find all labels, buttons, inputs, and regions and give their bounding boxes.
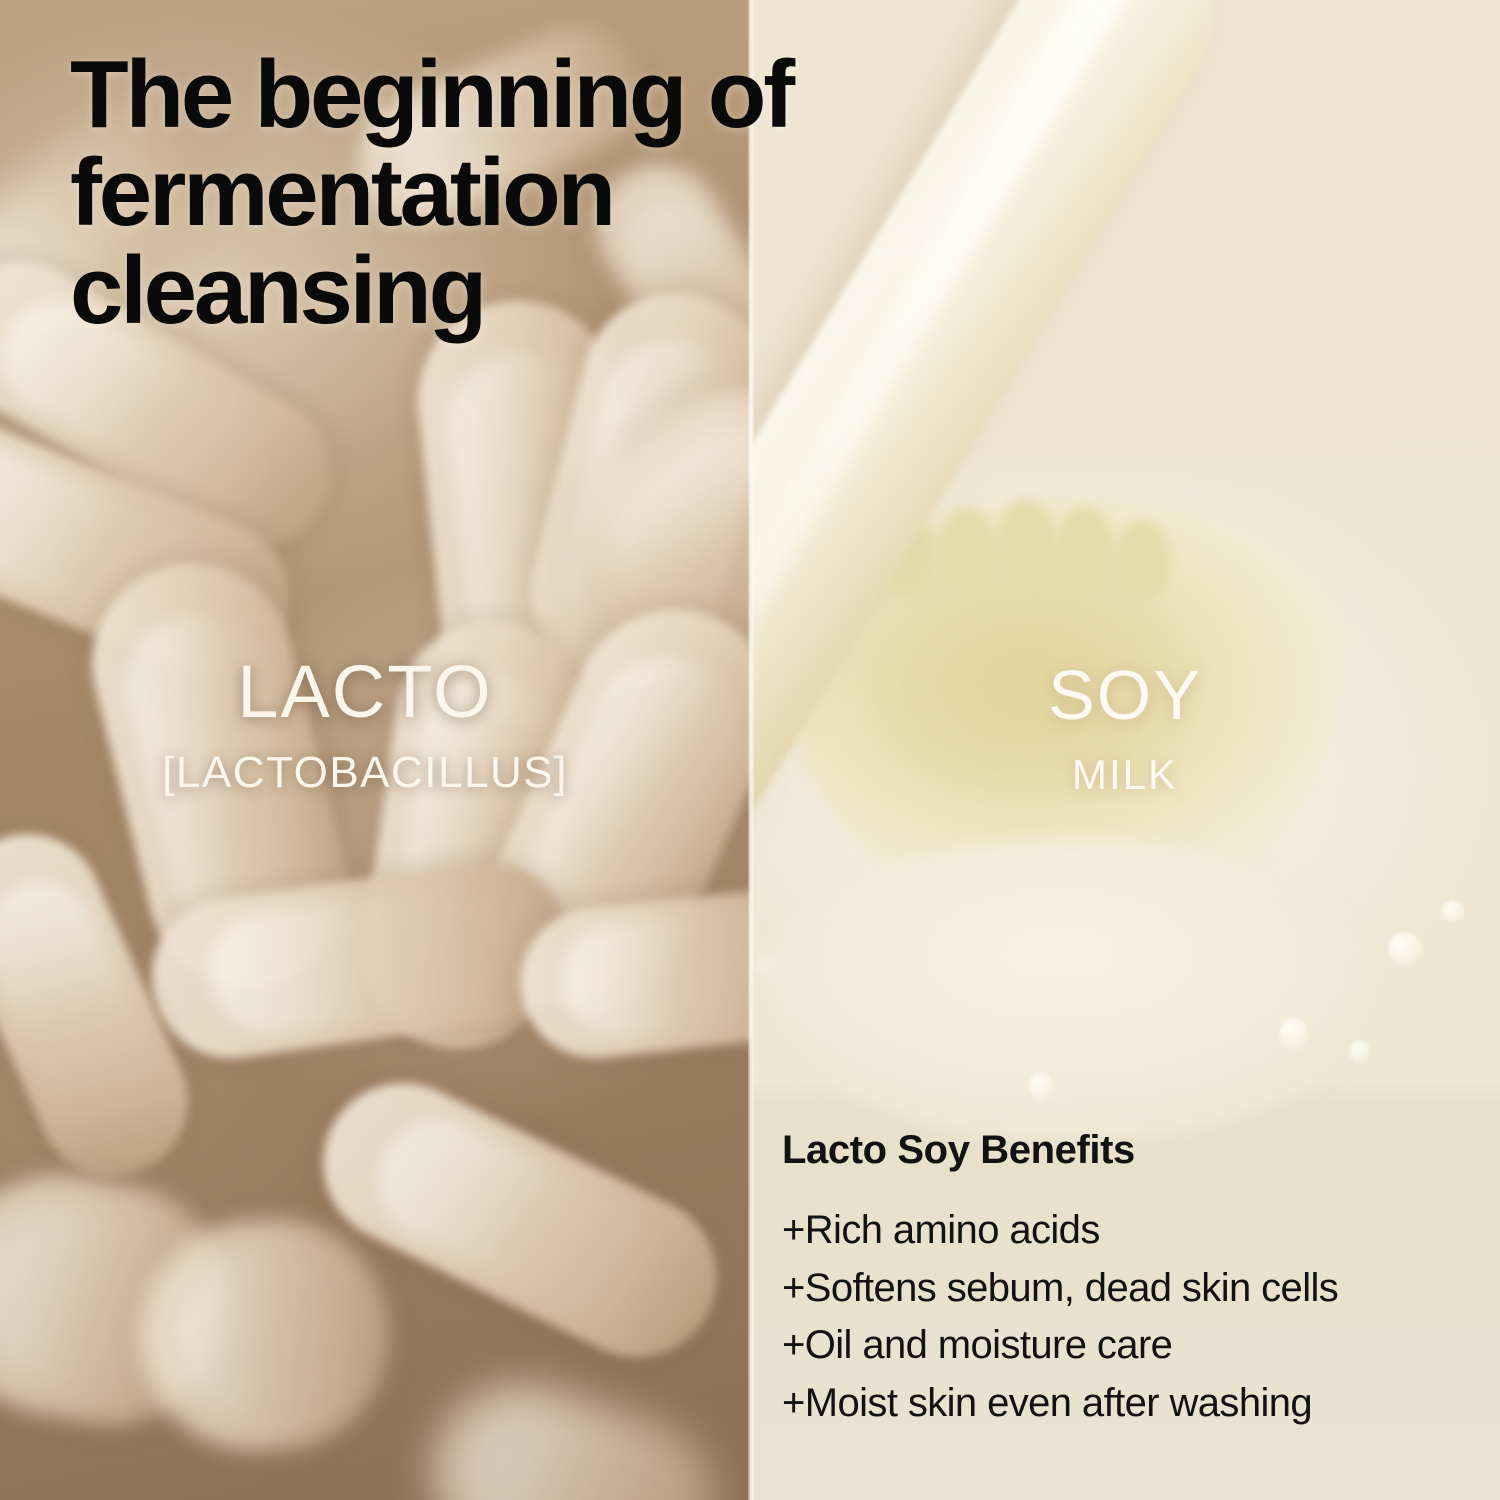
benefits-title: Lacto Soy Benefits (782, 1128, 1494, 1172)
milk-droplet (1350, 1040, 1370, 1064)
soy-label-sub: MILK (930, 754, 1320, 796)
benefit-item: +Moist skin even after washing (782, 1375, 1494, 1433)
lacto-label-group: LACTO [LACTOBACILLUS] (0, 655, 730, 795)
benefit-item: +Rich amino acids (782, 1202, 1494, 1260)
promo-poster: LACTO [LACTOBACILLUS] SOY MILK The begin… (0, 0, 1500, 1500)
soy-label-group: SOY MILK (930, 660, 1320, 796)
milk-rim (762, 840, 1382, 1140)
milk-droplet (1029, 1072, 1053, 1102)
milk-crown-peak (996, 500, 1056, 588)
benefit-item: +Softens sebum, dead skin cells (782, 1260, 1494, 1318)
milk-droplet (1388, 932, 1422, 966)
milk-droplet (1442, 900, 1464, 922)
soy-label-main: SOY (930, 660, 1320, 730)
milk-crown-peak (1114, 520, 1170, 600)
milk-crown-peak (938, 508, 996, 592)
benefits-section: Lacto Soy Benefits +Rich amino acids +So… (782, 1128, 1494, 1432)
milk-droplet (1280, 1017, 1308, 1051)
lacto-label-main: LACTO (0, 655, 730, 729)
lacto-label-sub: [LACTOBACILLUS] (0, 751, 730, 795)
page-title: The beginning of fermentation cleansing (70, 46, 1070, 340)
milk-crown-peak (1056, 506, 1114, 592)
benefit-item: +Oil and moisture care (782, 1317, 1494, 1375)
